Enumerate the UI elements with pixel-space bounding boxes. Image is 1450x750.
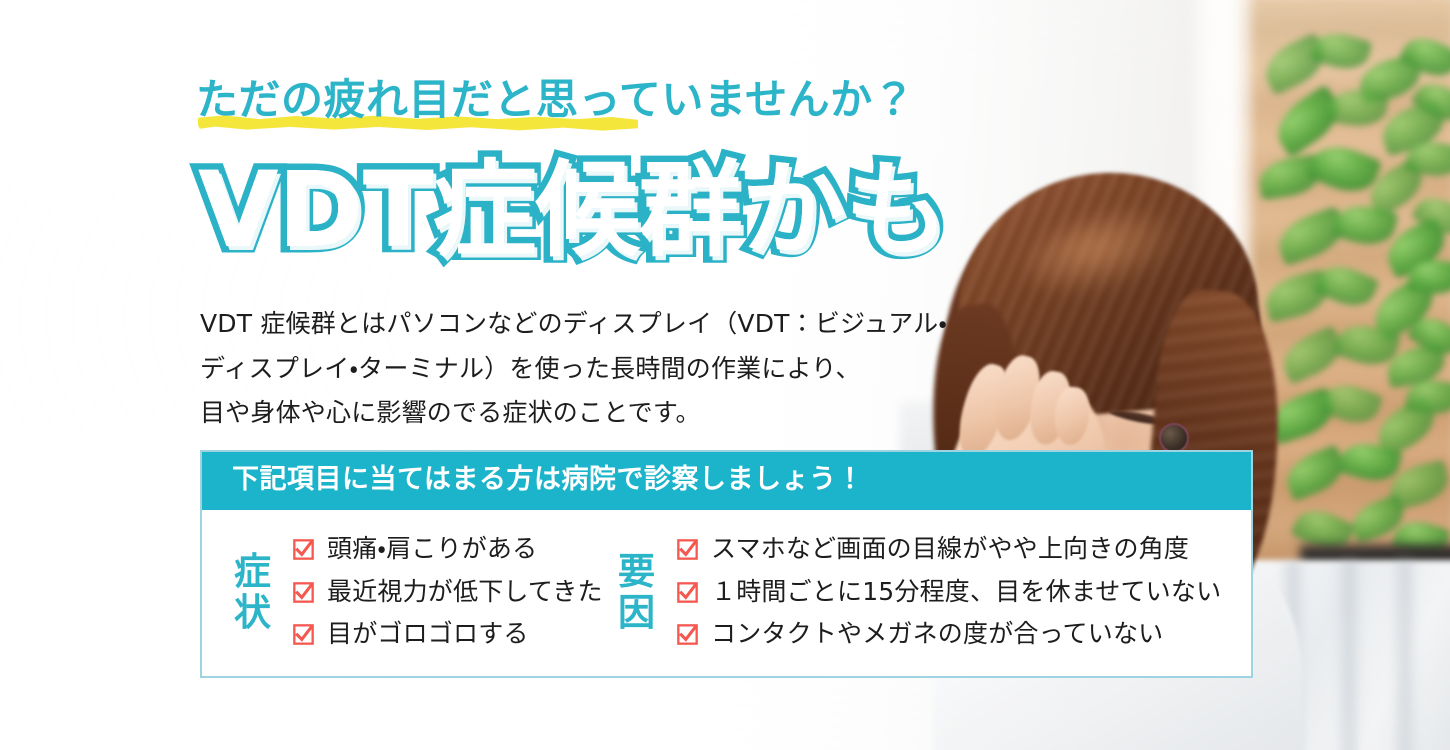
lead-line: ディスプレイ・ターミナル）を使った長時間の作業により、: [200, 347, 990, 392]
checklist-item-label: 頭痛・肩こりがある: [327, 534, 537, 565]
checklist-item[interactable]: １時間ごとに15分程度、目を休ませていない: [677, 577, 1221, 608]
checkbox-checked-icon: [293, 624, 314, 645]
checkbox-checked-icon: [293, 582, 314, 603]
checklist-panel-body: 症 状頭痛・肩こりがある最近視力が低下してきた目がゴロゴロする要 因スマホなど画…: [202, 510, 1251, 676]
checklist-item-label: コンタクトやメガネの度が合っていない: [711, 619, 1163, 650]
checklist-column-causes: 要 因スマホなど画面の目線がやや上向きの角度１時間ごとに15分程度、目を休ませて…: [610, 534, 1251, 650]
checklist-item[interactable]: 最近視力が低下してきた: [293, 577, 603, 608]
checklist-item-label: １時間ごとに15分程度、目を休ませていない: [711, 577, 1221, 608]
checklist-item[interactable]: コンタクトやメガネの度が合っていない: [677, 619, 1221, 650]
checkbox-checked-icon: [293, 539, 314, 560]
checklist-items: スマホなど画面の目線がやや上向きの角度１時間ごとに15分程度、目を休ませていない…: [677, 534, 1221, 650]
checklist-item-label: スマホなど画面の目線がやや上向きの角度: [711, 534, 1189, 565]
checklist-item-label: 最近視力が低下してきた: [327, 577, 603, 608]
checklist-item-label: 目がゴロゴロする: [327, 619, 529, 650]
checklist-item[interactable]: 頭痛・肩こりがある: [293, 534, 603, 565]
checklist-item[interactable]: スマホなど画面の目線がやや上向きの角度: [677, 534, 1221, 565]
main-title: VDT症候群かも: [198, 158, 948, 262]
lead-paragraph: VDT 症候群とはパソコンなどのディスプレイ（VDT：ビジュアル・ディスプレイ・…: [200, 302, 990, 436]
vdt-syndrome-banner: ただの疲れ目だと思っていませんか？ VDT症候群かも VDT症候群かも VDT …: [0, 0, 1450, 750]
checklist-panel-heading: 下記項目に当てはまる方は病院で診察しましょう！: [232, 464, 1221, 496]
column-label-causes: 要 因: [614, 551, 659, 634]
kicker-block: ただの疲れ目だと思っていませんか？: [196, 78, 915, 140]
lead-line: VDT 症候群とはパソコンなどのディスプレイ（VDT：ビジュアル・: [200, 302, 990, 347]
checklist-panel: 下記項目に当てはまる方は病院で診察しましょう！ 症 状頭痛・肩こりがある最近視力…: [200, 450, 1253, 678]
content-overlay: ただの疲れ目だと思っていませんか？ VDT症候群かも VDT症候群かも VDT …: [0, 0, 1450, 750]
lead-line: 目や身体や心に影響のでる症状のことです。: [200, 391, 990, 436]
checklist-column-symptoms: 症 状頭痛・肩こりがある最近視力が低下してきた目がゴロゴロする: [202, 534, 610, 650]
checkbox-checked-icon: [677, 624, 698, 645]
kicker-text: ただの疲れ目だと思っていませんか？: [196, 78, 915, 122]
checkbox-checked-icon: [677, 539, 698, 560]
checklist-items: 頭痛・肩こりがある最近視力が低下してきた目がゴロゴロする: [293, 534, 603, 650]
column-label-symptoms: 症 状: [230, 551, 275, 634]
checklist-panel-header: 下記項目に当てはまる方は病院で診察しましょう！: [202, 452, 1251, 510]
checkbox-checked-icon: [677, 582, 698, 603]
checklist-item[interactable]: 目がゴロゴロする: [293, 619, 603, 650]
